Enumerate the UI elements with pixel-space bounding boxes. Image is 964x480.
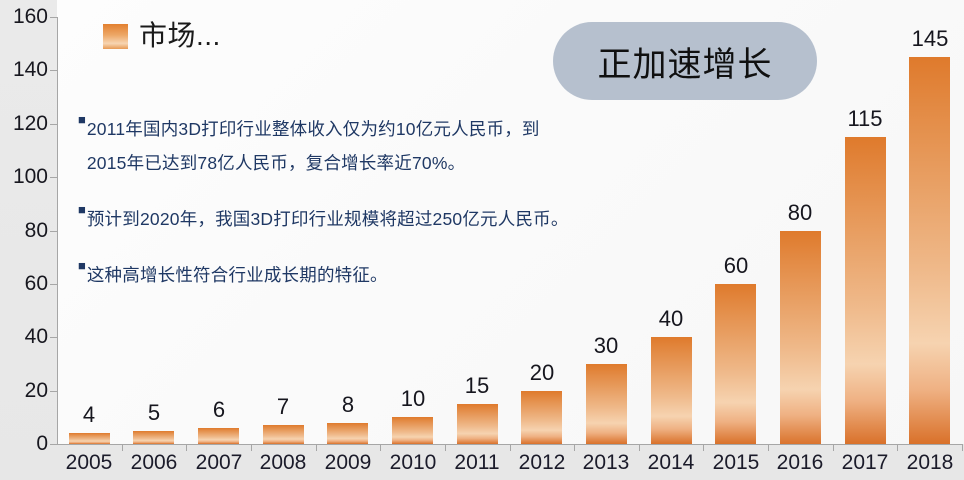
bar[interactable] [457,404,498,444]
bar-value-label: 145 [890,28,964,50]
y-axis-tick [50,444,57,445]
x-axis-tick [122,444,123,451]
x-axis-tick [768,444,769,451]
x-axis-tick [703,444,704,451]
bar-value-label: 30 [566,335,646,357]
list-item: ■ 2011年国内3D打印行业整体收入仅为约10亿元人民币，到 2015年已达到… [78,112,618,180]
y-axis-tick [50,284,57,285]
list-item: ■ 预计到2020年，我国3D打印行业规模将超过250亿元人民币。 [78,202,618,236]
legend-label: 市场... [139,22,221,50]
bullet-square-icon: ■ [78,202,86,218]
callout-badge: 正加速增长 [553,22,817,100]
x-axis-tick [251,444,252,451]
y-axis-tick [50,391,57,392]
bullet-square-icon: ■ [78,258,86,274]
x-axis-tick [962,444,963,451]
x-axis-tick [833,444,834,451]
bullet-list: ■ 2011年国内3D打印行业整体收入仅为约10亿元人民币，到 2015年已达到… [78,112,618,296]
bullet-item-2-text: 预计到2020年，我国3D打印行业规模将超过250亿元人民币。 [87,202,569,236]
y-axis-line [57,17,58,444]
bar-value-label: 60 [696,255,776,277]
bar-value-label: 20 [502,362,582,384]
bar[interactable] [715,284,756,444]
x-axis-tick [510,444,511,451]
bar-value-label: 115 [825,108,905,130]
bar[interactable] [521,391,562,444]
x-axis-tick [897,444,898,451]
legend-swatch-icon [103,24,128,49]
x-axis-tick [639,444,640,451]
y-axis-tick-label: 120 [0,113,48,134]
x-axis-tick [186,444,187,451]
y-axis-tick-label: 20 [0,380,48,401]
bar[interactable] [392,417,433,444]
bar[interactable] [69,433,110,444]
bar[interactable] [198,428,239,444]
x-axis-tick [316,444,317,451]
x-axis-category-label: 2018 [890,452,964,473]
y-axis-tick [50,177,57,178]
bullet-item-1-text: 2011年国内3D打印行业整体收入仅为约10亿元人民币，到 2015年已达到78… [87,112,540,180]
y-axis-tick-label: 100 [0,166,48,187]
bar-value-label: 80 [760,202,840,224]
y-axis-tick [50,231,57,232]
y-axis-tick [50,17,57,18]
y-axis-tick [50,337,57,338]
chart-legend[interactable]: 市场... [103,22,221,50]
bullet-item-1-line-1: 2011年国内3D打印行业整体收入仅为约10亿元人民币，到 [87,119,540,139]
x-axis-tick [445,444,446,451]
bar[interactable] [327,423,368,444]
bullet-square-icon: ■ [78,112,86,128]
bar-value-label: 40 [631,308,711,330]
bar[interactable] [586,364,627,444]
y-axis-tick-label: 60 [0,273,48,294]
x-axis-tick [380,444,381,451]
y-axis-tick-label: 160 [0,6,48,27]
bar-chart: 020406080100120140160 456781015203040608… [0,0,964,480]
bar[interactable] [651,337,692,444]
y-axis-tick-label: 40 [0,326,48,347]
x-axis-tick [574,444,575,451]
y-axis-tick-label: 0 [0,433,48,454]
callout-text: 正加速增长 [598,37,773,86]
y-axis-tick-label: 140 [0,59,48,80]
bar[interactable] [845,137,886,444]
bar[interactable] [909,57,950,444]
list-item: ■ 这种高增长性符合行业成长期的特征。 [78,258,618,292]
bullet-item-1-line-2: 2015年已达到78亿人民币，复合增长率近70%。 [87,153,465,173]
y-axis-tick-label: 80 [0,220,48,241]
bar[interactable] [263,425,304,444]
bullet-item-3-text: 这种高增长性符合行业成长期的特征。 [87,258,388,292]
y-axis-tick [50,124,57,125]
bar[interactable] [133,431,174,444]
bar[interactable] [780,231,821,445]
y-axis-tick [50,70,57,71]
